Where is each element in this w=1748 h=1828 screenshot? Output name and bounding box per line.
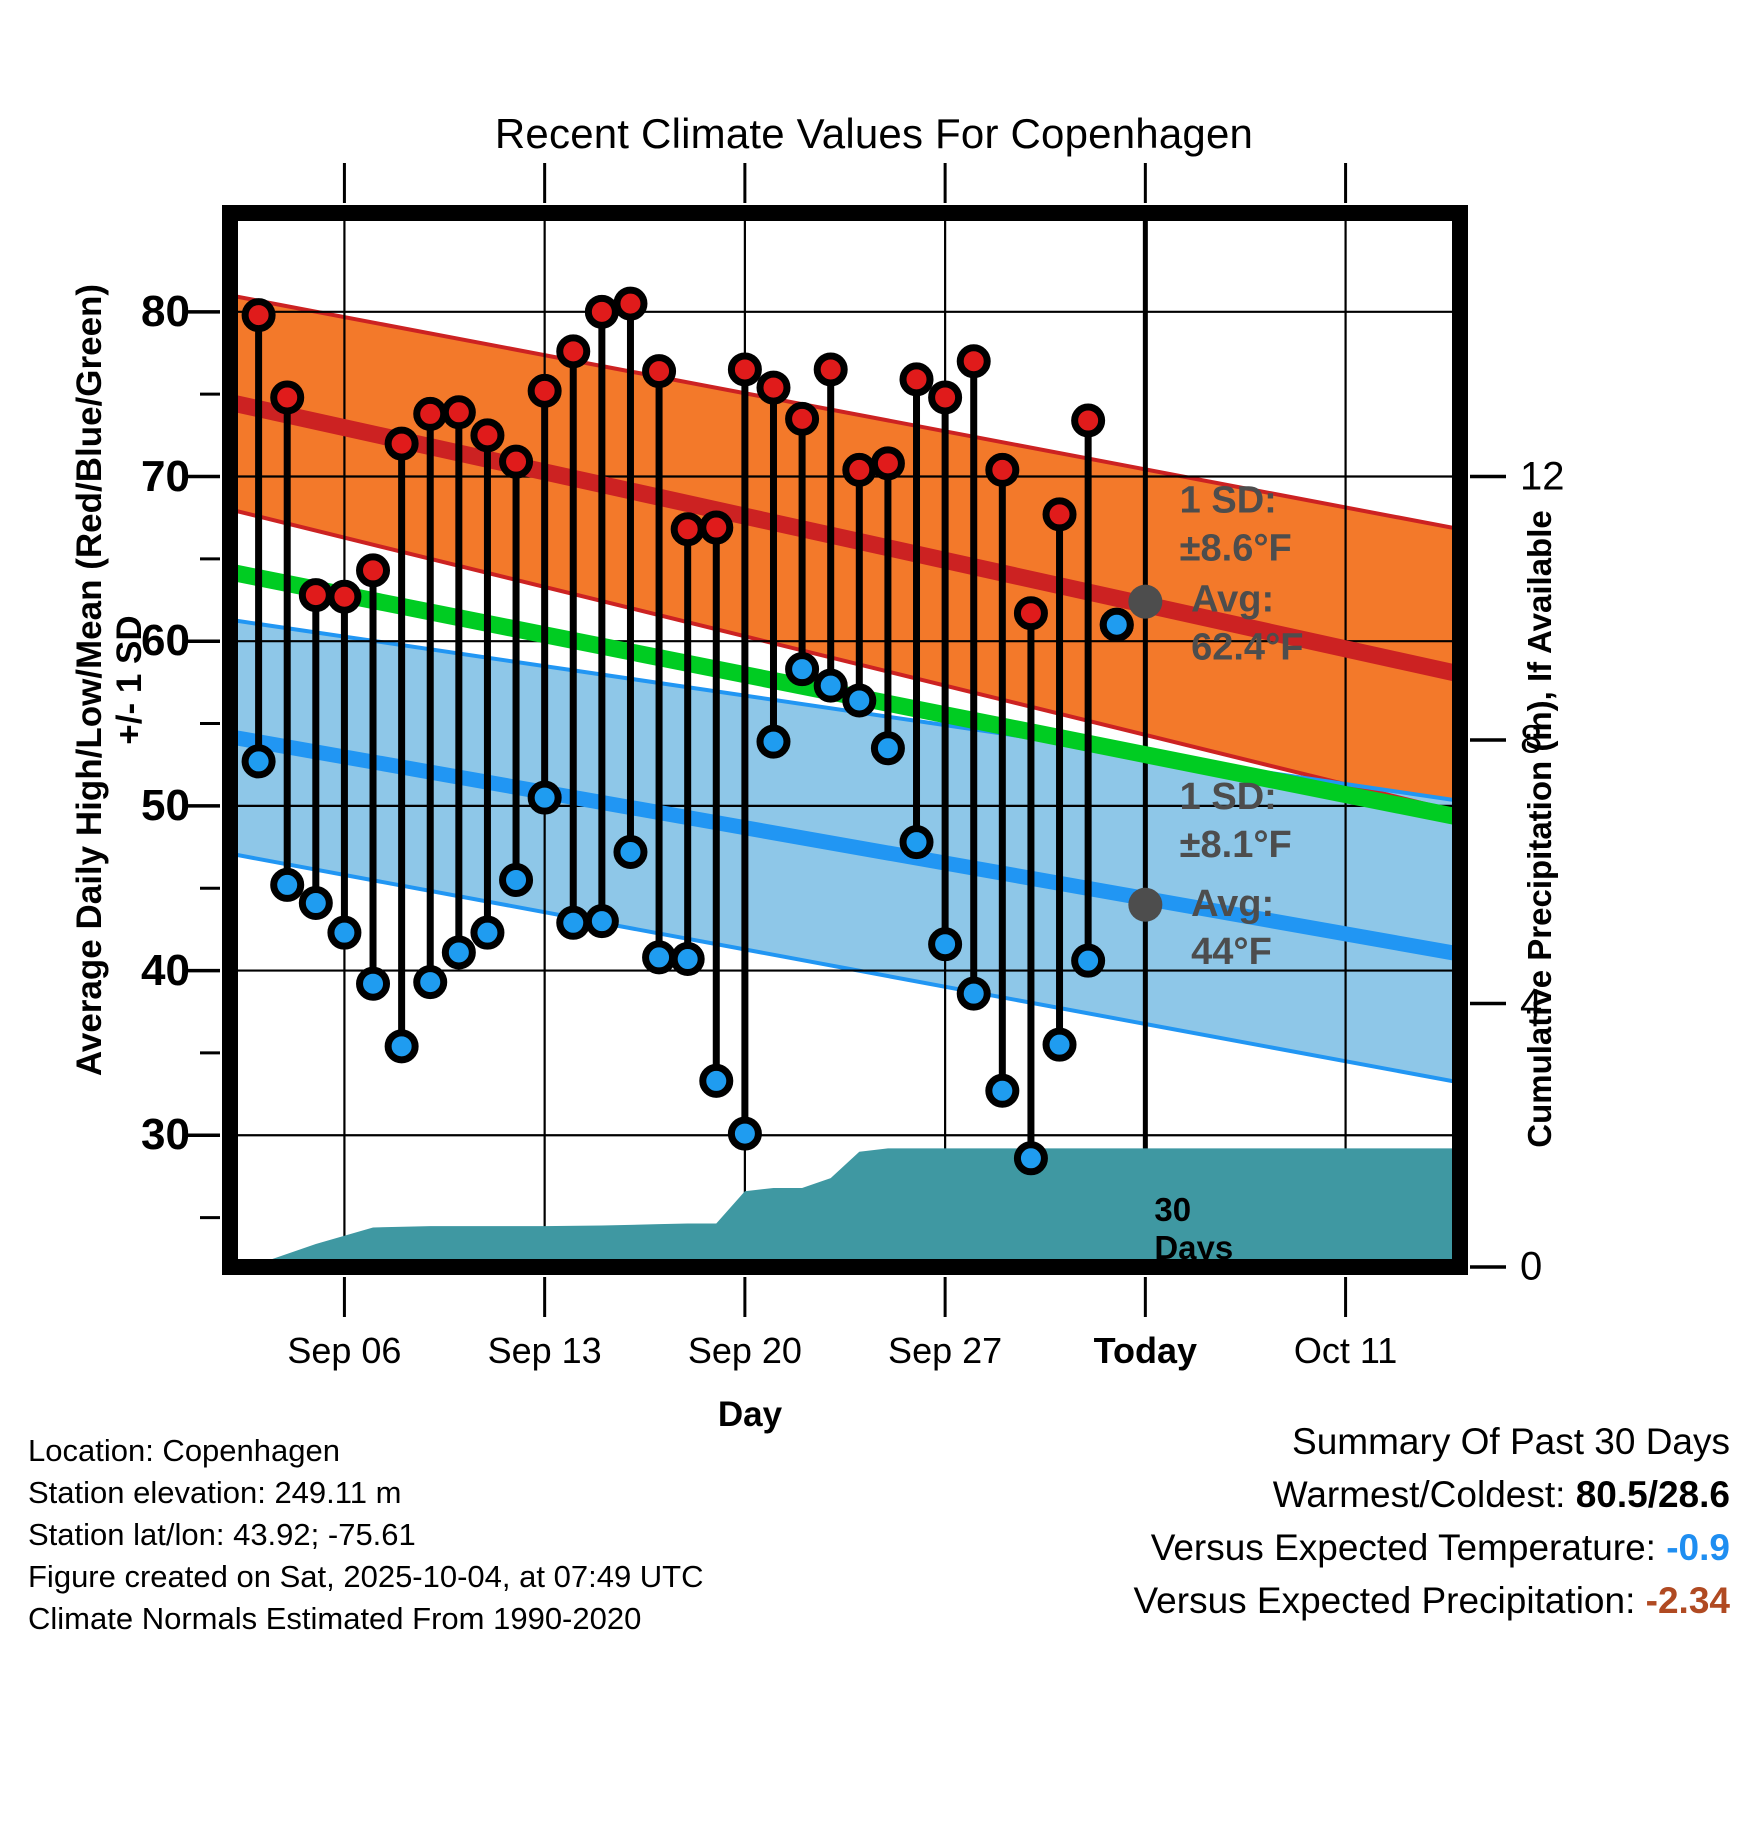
daily-high-marker[interactable]: [731, 356, 758, 383]
summary-row-vs-temperature: Versus Expected Temperature: -0.9: [1134, 1521, 1730, 1574]
low-sd-annotation-value: ±8.1°F: [1180, 824, 1292, 866]
low-avg-annotation-label: Avg:: [1191, 883, 1274, 925]
y-axis-left-tick-label: 70: [80, 452, 190, 502]
y-axis-right-tick-label: 12: [1520, 454, 1565, 499]
daily-low-marker[interactable]: [274, 871, 301, 898]
daily-low-marker[interactable]: [1075, 947, 1102, 974]
daily-high-marker[interactable]: [617, 290, 644, 317]
daily-high-marker[interactable]: [1017, 600, 1044, 627]
daily-low-marker[interactable]: [302, 890, 329, 917]
daily-high-marker[interactable]: [674, 516, 701, 543]
x-axis-tick-label: Sep 27: [888, 1330, 1002, 1372]
daily-low-marker[interactable]: [960, 980, 987, 1007]
daily-low-marker[interactable]: [1017, 1145, 1044, 1172]
daily-low-marker[interactable]: [560, 909, 587, 936]
today-high-avg-dot: [1128, 585, 1162, 619]
footer-line-elevation: Station elevation: 249.11 m: [28, 1472, 704, 1514]
daily-high-marker[interactable]: [703, 514, 730, 541]
daily-low-marker[interactable]: [760, 728, 787, 755]
daily-low-marker[interactable]: [388, 1033, 415, 1060]
summary-row-vs-precipitation: Versus Expected Precipitation: -2.34: [1134, 1574, 1730, 1627]
y-axis-left-tick-label: 40: [80, 946, 190, 996]
daily-low-marker[interactable]: [874, 735, 901, 762]
daily-low-marker[interactable]: [646, 944, 673, 971]
daily-low-marker[interactable]: [531, 784, 558, 811]
y-axis-left-tick-label: 50: [80, 781, 190, 831]
daily-high-marker[interactable]: [388, 430, 415, 457]
y-axis-left-tick-label: 30: [80, 1110, 190, 1160]
x-axis-tick-label: Sep 13: [488, 1330, 602, 1372]
plot-interior: 1 SD:±8.6°FAvg:62.4°F1 SD:±8.1°FAvg:44°F: [230, 213, 1460, 1267]
footer-line-normals: Climate Normals Estimated From 1990-2020: [28, 1598, 704, 1640]
footer-line-latlon: Station lat/lon: 43.92; -75.61: [28, 1514, 704, 1556]
high-sd-annotation-value: ±8.6°F: [1180, 528, 1292, 570]
daily-low-marker[interactable]: [503, 866, 530, 893]
daily-low-marker[interactable]: [1046, 1031, 1073, 1058]
high-avg-annotation-label: Avg:: [1191, 579, 1274, 621]
summary-label: Versus Expected Precipitation:: [1134, 1580, 1636, 1621]
daily-low-marker[interactable]: [903, 829, 930, 856]
daily-high-marker[interactable]: [874, 450, 901, 477]
summary-label: Versus Expected Temperature:: [1151, 1527, 1656, 1568]
y-axis-right-tick-label: 4: [1520, 981, 1542, 1026]
x-axis-tick-label: Today: [1094, 1330, 1197, 1372]
daily-high-marker[interactable]: [789, 405, 816, 432]
summary-value: 80.5/28.6: [1576, 1474, 1730, 1515]
high-avg-annotation-value: 62.4°F: [1191, 627, 1303, 669]
climate-chart-page: Recent Climate Values For Copenhagen Ave…: [0, 0, 1748, 1828]
daily-high-marker[interactable]: [417, 400, 444, 427]
daily-low-marker[interactable]: [817, 672, 844, 699]
daily-low-marker[interactable]: [703, 1067, 730, 1094]
low-avg-annotation-value: 44°F: [1191, 931, 1272, 973]
window-days-annotation: 30 Days: [1154, 1191, 1233, 1267]
daily-high-marker[interactable]: [302, 582, 329, 609]
x-axis-tick-label: Sep 06: [287, 1330, 401, 1372]
daily-low-marker[interactable]: [445, 939, 472, 966]
daily-high-marker[interactable]: [588, 298, 615, 325]
window-days-count: 30: [1154, 1191, 1233, 1229]
daily-high-marker[interactable]: [360, 557, 387, 584]
daily-low-marker[interactable]: [1103, 611, 1130, 638]
daily-low-marker[interactable]: [245, 748, 272, 775]
x-axis-tick-label: Sep 20: [688, 1330, 802, 1372]
daily-high-marker[interactable]: [760, 374, 787, 401]
daily-low-marker[interactable]: [417, 969, 444, 996]
daily-high-marker[interactable]: [560, 338, 587, 365]
y-axis-right-tick-label: 0: [1520, 1245, 1542, 1290]
daily-high-marker[interactable]: [1046, 501, 1073, 528]
daily-low-marker[interactable]: [674, 946, 701, 973]
daily-high-marker[interactable]: [1075, 407, 1102, 434]
daily-low-marker[interactable]: [789, 656, 816, 683]
daily-high-marker[interactable]: [331, 583, 358, 610]
daily-low-marker[interactable]: [360, 970, 387, 997]
x-axis-tick-label: Oct 11: [1294, 1330, 1397, 1372]
summary-value: -0.9: [1666, 1527, 1730, 1568]
daily-low-marker[interactable]: [474, 919, 501, 946]
daily-low-marker[interactable]: [617, 838, 644, 865]
daily-low-marker[interactable]: [932, 931, 959, 958]
window-days-word: Days: [1154, 1229, 1233, 1267]
footer-line-location: Location: Copenhagen: [28, 1430, 704, 1472]
daily-high-marker[interactable]: [932, 384, 959, 411]
footer-line-created: Figure created on Sat, 2025-10-04, at 07…: [28, 1556, 704, 1598]
summary-heading: Summary Of Past 30 Days: [1134, 1415, 1730, 1468]
high-sd-annotation-label: 1 SD:: [1180, 480, 1277, 522]
summary-panel: Summary Of Past 30 Days Warmest/Coldest:…: [1134, 1415, 1730, 1627]
today-low-avg-dot: [1128, 888, 1162, 922]
daily-high-marker[interactable]: [531, 377, 558, 404]
daily-high-marker[interactable]: [474, 422, 501, 449]
daily-high-marker[interactable]: [846, 456, 873, 483]
daily-high-marker[interactable]: [989, 456, 1016, 483]
y-axis-left-tick-label: 60: [80, 616, 190, 666]
daily-low-marker[interactable]: [731, 1120, 758, 1147]
daily-high-marker[interactable]: [646, 358, 673, 385]
summary-value: -2.34: [1646, 1580, 1730, 1621]
daily-high-marker[interactable]: [903, 366, 930, 393]
daily-low-marker[interactable]: [846, 687, 873, 714]
footer-metadata: Location: Copenhagen Station elevation: …: [28, 1430, 704, 1640]
y-axis-left-tick-label: 80: [80, 287, 190, 337]
y-axis-right-tick-label: 8: [1520, 718, 1542, 763]
daily-low-marker[interactable]: [989, 1077, 1016, 1104]
summary-label: Warmest/Coldest:: [1273, 1474, 1566, 1515]
daily-high-marker[interactable]: [503, 448, 530, 475]
daily-high-marker[interactable]: [960, 348, 987, 375]
daily-high-marker[interactable]: [445, 399, 472, 426]
daily-high-marker[interactable]: [817, 356, 844, 383]
summary-row-warmest-coldest: Warmest/Coldest: 80.5/28.6: [1134, 1468, 1730, 1521]
daily-high-marker[interactable]: [245, 302, 272, 329]
daily-high-marker[interactable]: [274, 384, 301, 411]
low-sd-annotation-label: 1 SD:: [1180, 776, 1277, 818]
daily-low-marker[interactable]: [331, 919, 358, 946]
daily-low-marker[interactable]: [588, 908, 615, 935]
